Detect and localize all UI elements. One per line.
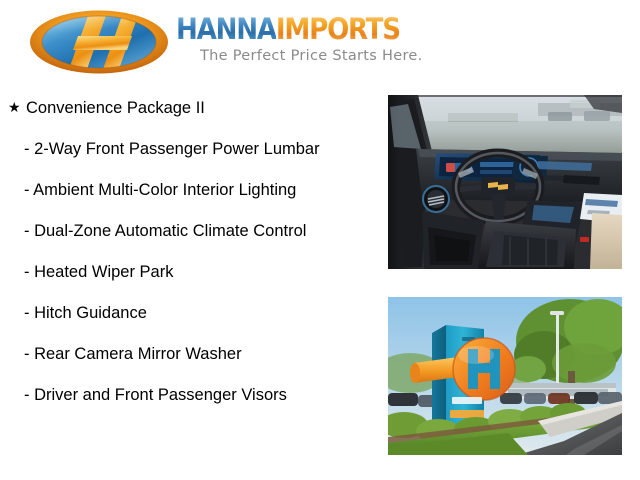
brand-name-hanna: HANNA: [176, 12, 276, 46]
brand-wordmark: HANNAIMPORTS The Perfect Price Starts He…: [176, 13, 526, 64]
feature-list: ★Convenience Package II - 2-Way Front Pa…: [0, 92, 380, 406]
list-item: - Dual-Zone Automatic Climate Control: [0, 221, 380, 242]
vehicle-interior-photo[interactable]: [388, 95, 622, 269]
star-bullet-icon: ★: [8, 96, 26, 118]
list-item: - Heated Wiper Park: [0, 262, 380, 283]
feature-list-heading: ★Convenience Package II: [0, 92, 380, 119]
feature-heading-label: Convenience Package II: [26, 99, 205, 117]
brand-tagline: The Perfect Price Starts Here.: [176, 48, 526, 64]
hanna-oval-h-logo-icon: [28, 10, 170, 74]
dealership-sign-photo[interactable]: [388, 297, 622, 455]
brand-name-imports: IMPORTS: [276, 12, 400, 46]
list-item: - Hitch Guidance: [0, 303, 380, 324]
brand-wordmark-row: HANNAIMPORTS: [176, 13, 526, 46]
list-item: - Rear Camera Mirror Washer: [0, 344, 380, 365]
brand-header: HANNAIMPORTS The Perfect Price Starts He…: [0, 0, 640, 88]
list-item: - 2-Way Front Passenger Power Lumbar: [0, 139, 380, 160]
list-item: - Ambient Multi-Color Interior Lighting: [0, 180, 380, 201]
list-item: - Driver and Front Passenger Visors: [0, 385, 380, 406]
